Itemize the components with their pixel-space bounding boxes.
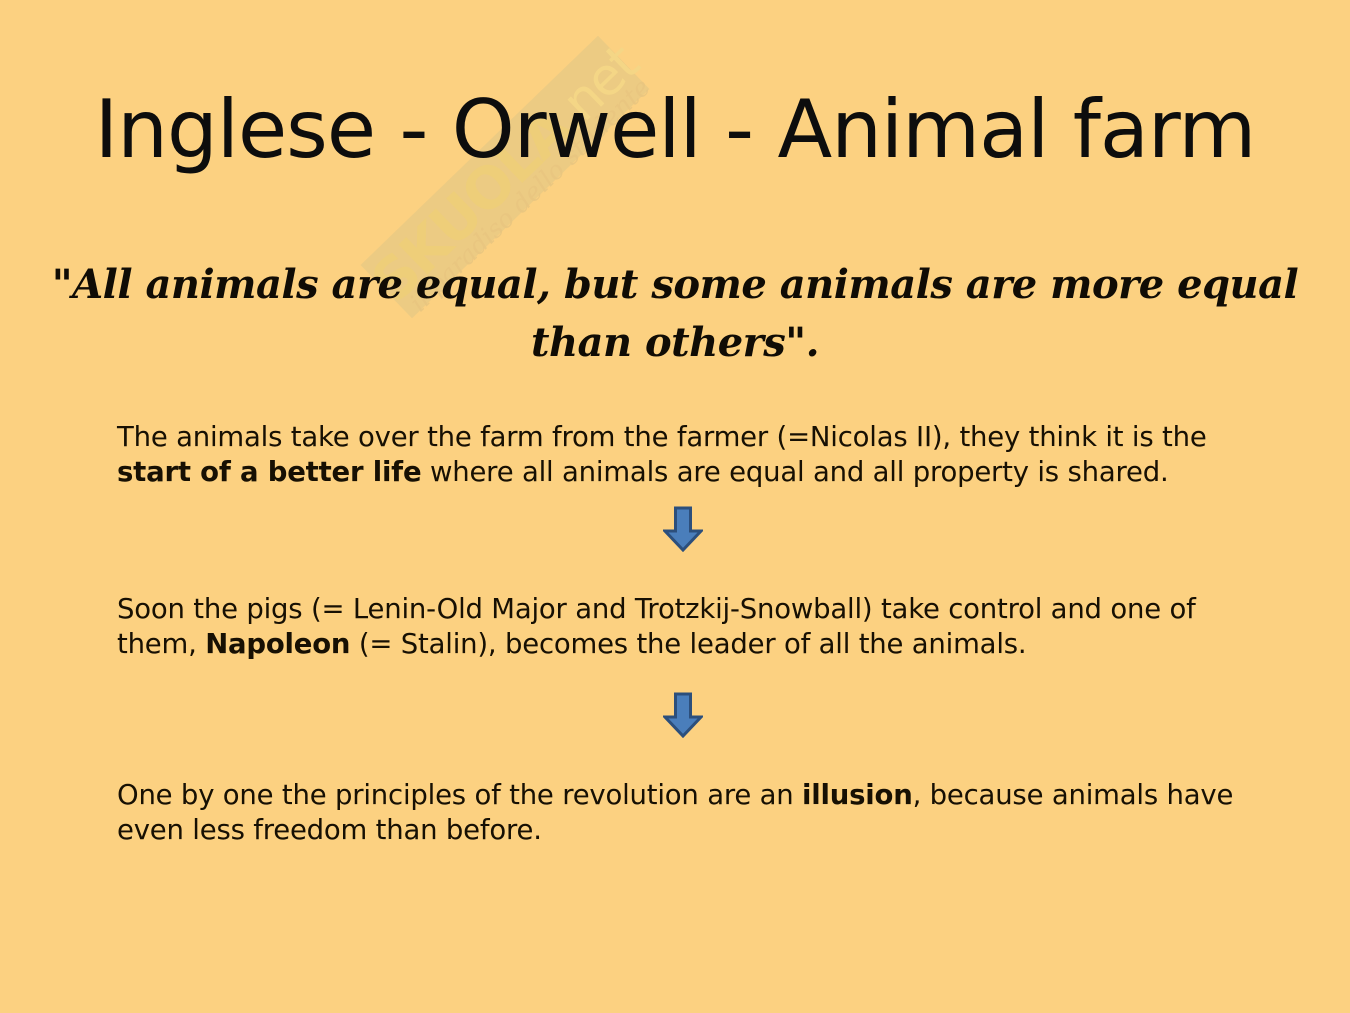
paragraph-2-text-after-bold: (= Stalin), becomes the leader of all th… [350,628,1026,660]
spacer-1 [117,490,1277,506]
paragraph-2-bold-phrase: Napoleon [205,628,350,660]
paragraph-3-text-before-bold: One by one the principles of the revolut… [117,779,802,811]
slide-body: The animals take over the farm from the … [117,420,1277,848]
paragraph-1-text-after-bold: where all animals are equal and all prop… [421,456,1168,488]
paragraph-3-bold-phrase: illusion [802,779,913,811]
slide-canvas: SKUOLA.net il paradiso dello studente In… [0,0,1350,1013]
paragraph-3: One by one the principles of the revolut… [117,778,1277,848]
paragraph-1-bold-phrase: start of a better life [117,456,421,488]
spacer-4 [117,738,1277,778]
paragraph-2: Soon the pigs (= Lenin-Old Major and Tro… [117,592,1277,662]
arrow-row-1 [117,506,1277,552]
slide-title: Inglese - Orwell - Animal farm [0,82,1350,178]
paragraph-1-text-before-bold: The animals take over the farm from the … [117,421,1207,453]
spacer-3 [117,662,1277,692]
down-arrow-icon [663,692,703,738]
paragraph-1: The animals take over the farm from the … [117,420,1277,490]
slide-quote: "All animals are equal, but some animals… [0,256,1350,372]
arrow-row-2 [117,692,1277,738]
down-arrow-icon [663,506,703,552]
spacer-2 [117,552,1277,592]
